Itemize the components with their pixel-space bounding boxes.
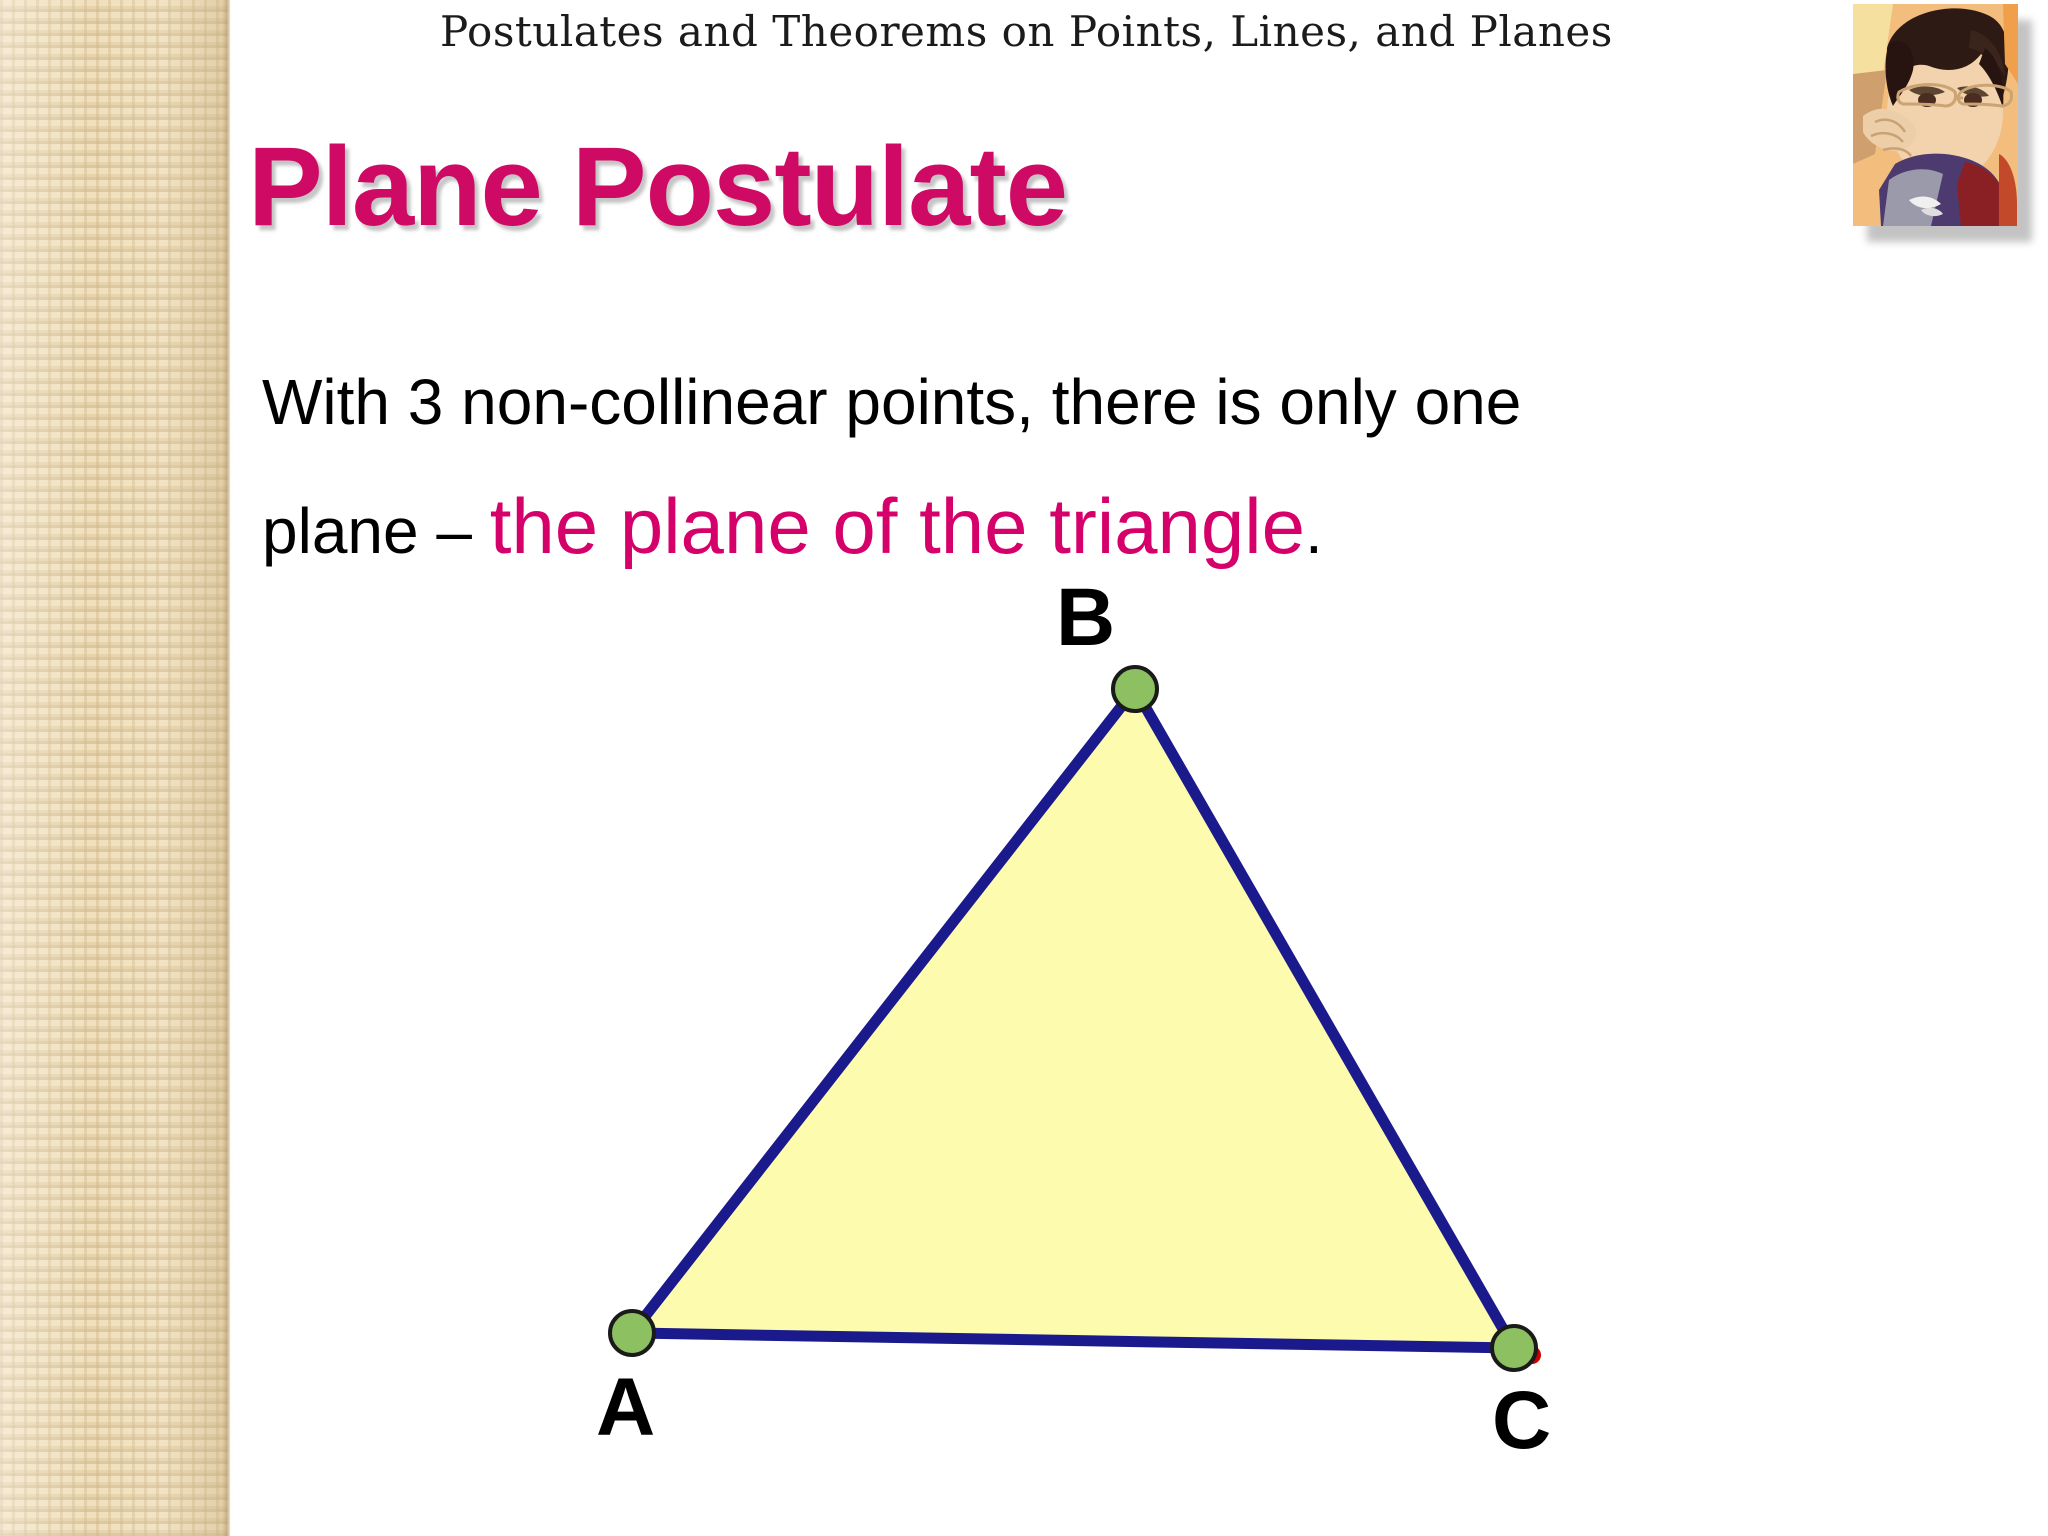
vertex-label-b: B bbox=[1056, 577, 1115, 659]
page-title: Plane Postulate bbox=[248, 122, 1067, 251]
anime-character-illustration bbox=[1853, 4, 2018, 226]
vertex-label-a: A bbox=[596, 1367, 655, 1449]
decorative-sidebar bbox=[0, 0, 230, 1536]
red-dot-marker bbox=[1523, 1346, 1541, 1364]
body-line-2-prefix: plane – bbox=[262, 495, 490, 567]
header-running-title: Postulates and Theorems on Points, Lines… bbox=[440, 2, 1860, 62]
vertex-point-c bbox=[1492, 1326, 1536, 1370]
triangle-polygon bbox=[632, 689, 1514, 1348]
corner-thumbnail bbox=[1853, 4, 2018, 230]
body-line-1-text: With 3 non-collinear points, there is on… bbox=[262, 366, 1521, 438]
anime-character-image bbox=[1853, 4, 2018, 226]
sidebar-edge-shadow bbox=[222, 0, 231, 1536]
body-text-block: With 3 non-collinear points, there is on… bbox=[262, 340, 1962, 593]
body-line-2-emphasis: the plane of the triangle bbox=[490, 482, 1305, 570]
body-line-2-suffix: . bbox=[1305, 495, 1323, 567]
vertex-point-b bbox=[1113, 667, 1157, 711]
vertex-point-a bbox=[610, 1311, 654, 1355]
vertex-label-c: C bbox=[1492, 1380, 1551, 1462]
slide-canvas: Postulates and Theorems on Points, Lines… bbox=[0, 0, 2048, 1536]
body-line-1: With 3 non-collinear points, there is on… bbox=[262, 340, 1962, 464]
